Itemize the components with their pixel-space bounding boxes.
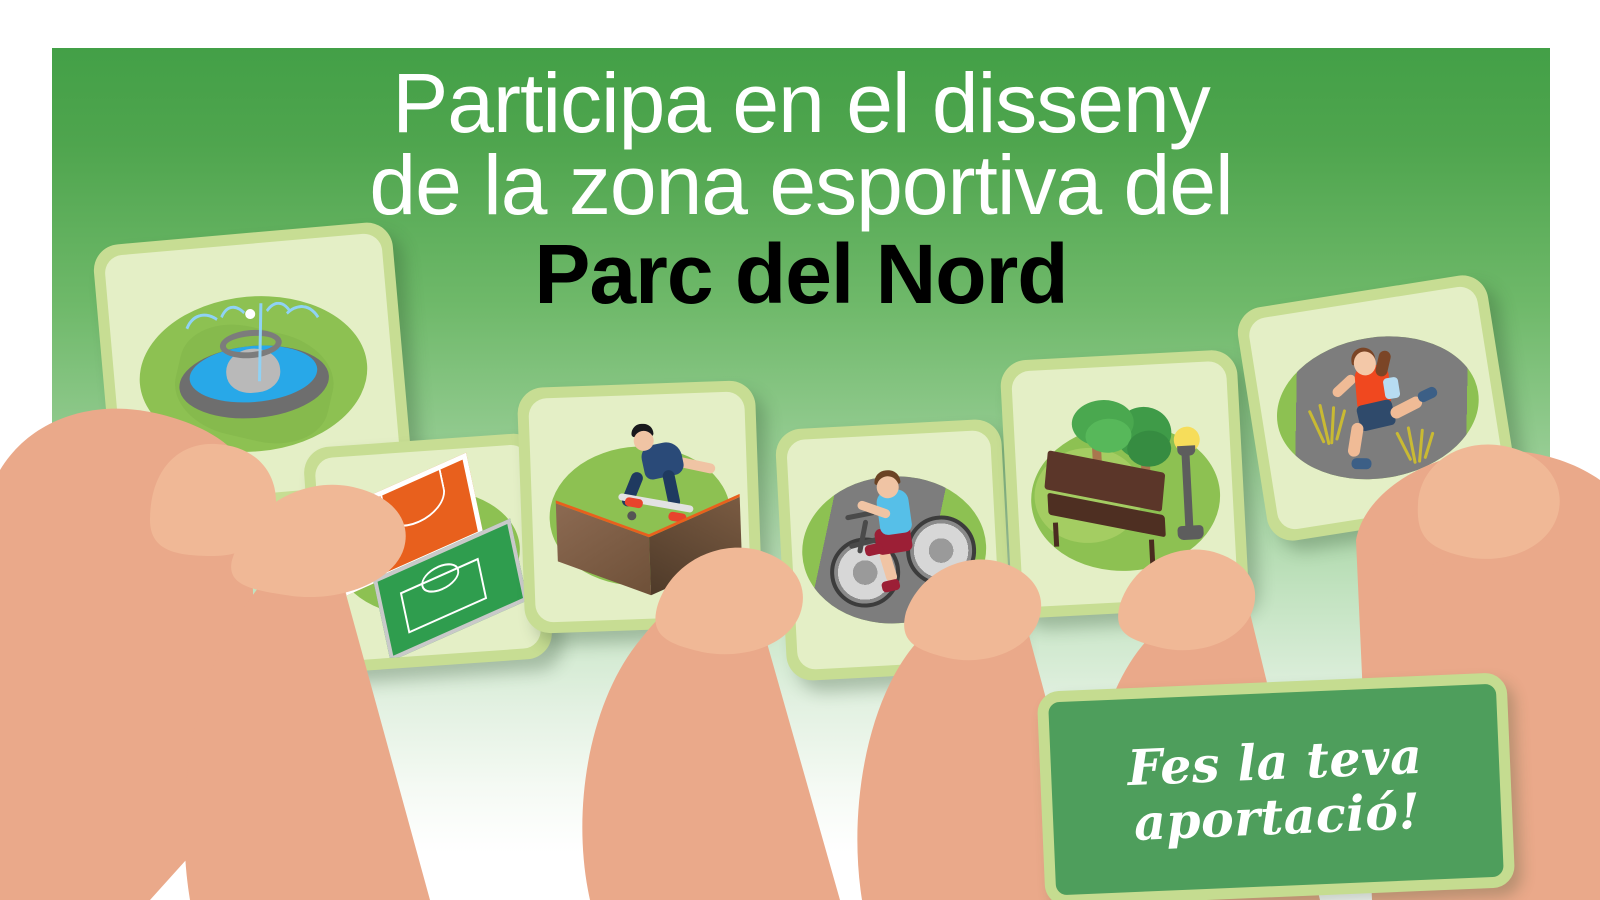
running-path-card[interactable] [1234,272,1521,545]
runner-shoe-icon [1351,458,1371,469]
footer-logos: Ajuntament de Sabadell Hi col·labora: Di… [0,780,1600,870]
runner-armband-icon [1382,377,1400,400]
poster-canvas: Participa en el disseny de la zona espor… [0,0,1600,900]
skater-head-icon [633,430,654,451]
park-bench-card[interactable] [999,349,1249,619]
runner-card-inner [1247,284,1509,532]
court-group [329,444,527,662]
bench-card-inner [1011,361,1238,608]
court-card-inner [314,444,542,662]
sports-court-card[interactable] [302,432,553,674]
skate-park-card[interactable] [517,380,763,634]
bike-path-card[interactable] [775,418,1014,681]
skate-card-inner [528,391,752,622]
lamppost-collar-icon [1177,445,1195,456]
bike-card-inner [786,430,1002,670]
lamppost-base-icon [1177,525,1204,540]
